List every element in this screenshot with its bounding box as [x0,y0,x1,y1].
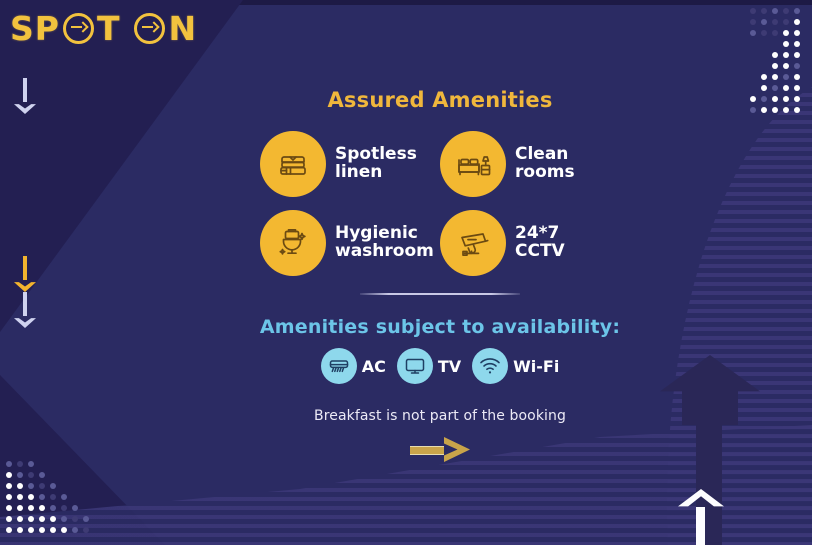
availability-item-wifi: Wi-Fi [472,348,559,384]
cctv-camera-icon [440,210,506,276]
dot [17,472,23,478]
dot [783,52,789,58]
dot [794,96,800,102]
dot [83,461,89,467]
dot [39,516,45,522]
dot [783,74,789,80]
dot [761,52,767,58]
dot [39,494,45,500]
dot [794,30,800,36]
wifi-icon [472,348,508,384]
dot [794,85,800,91]
dot [739,52,745,58]
dot [783,30,789,36]
amenity-label: Spotless linen [335,146,417,182]
dot [61,483,67,489]
dot [783,107,789,113]
dot [750,41,756,47]
dot [772,30,778,36]
dot [750,52,756,58]
down-arrow-gold-icon [14,256,36,292]
logo-text-n: N [168,12,197,45]
dot [50,461,56,467]
dot [6,483,12,489]
dot [739,8,745,14]
dot [772,19,778,25]
dot [17,483,23,489]
amenities-grid: Spotless linen [260,131,620,276]
dot [83,505,89,511]
up-arrow-icon [678,489,724,545]
dot [739,85,745,91]
dot [783,63,789,69]
dot [17,505,23,511]
dot [17,516,23,522]
down-arrow-icon-top [14,78,36,114]
availability-title: Amenities subject to availability: [240,316,640,338]
dot [739,107,745,113]
right-arrow-icon [408,436,472,462]
availability-label: Wi-Fi [513,357,559,376]
dot [39,472,45,478]
dot [61,461,67,467]
amenity-clean-rooms: Clean rooms [440,131,620,197]
amenity-label: Hygienic washroom [335,225,434,261]
dot [750,8,756,14]
dot [772,107,778,113]
dot [83,483,89,489]
dot [28,527,34,533]
dot [750,19,756,25]
dot [783,8,789,14]
dot [28,516,34,522]
dot [6,461,12,467]
dot [794,107,800,113]
dot [39,461,45,467]
dot [72,483,78,489]
dot [794,19,800,25]
dot [761,85,767,91]
page-title: Assured Amenities [240,88,640,112]
poster-panel: SP T N Assured Amenities [0,0,812,545]
logo-text-sp: SP [10,12,60,45]
dot [61,527,67,533]
dot [783,96,789,102]
promo-poster: SP T N Assured Amenities [0,0,820,560]
dot [72,472,78,478]
folded-linen-icon [260,131,326,197]
dot-grid-bottom-left [6,461,89,533]
dot [83,472,89,478]
dot [28,505,34,511]
dot [72,516,78,522]
logo-text-t: T [97,12,121,45]
availability-item-tv: TV [397,348,461,384]
dot [72,461,78,467]
amenity-label: Clean rooms [515,146,575,182]
dot [28,461,34,467]
dot [761,107,767,113]
dot [83,516,89,522]
content-column: Assured Amenities Spotless linen [240,0,640,545]
dot [783,85,789,91]
dot [739,30,745,36]
breakfast-note: Breakfast is not part of the booking [240,408,640,424]
dot [750,30,756,36]
dot [61,494,67,500]
dot [750,63,756,69]
dot [739,74,745,80]
dot [61,505,67,511]
toilet-icon [260,210,326,276]
availability-item-ac: AC [321,348,386,384]
logo-o-arrow-icon-2 [134,13,165,44]
amenity-spotless-linen: Spotless linen [260,131,440,197]
dot [72,494,78,500]
dot [761,19,767,25]
dot [761,8,767,14]
dot [772,8,778,14]
dot [761,96,767,102]
dot [61,516,67,522]
dot [772,63,778,69]
dot [739,96,745,102]
dot [17,527,23,533]
amenity-hygienic-washroom: Hygienic washroom [260,210,440,276]
dot [794,41,800,47]
dot [783,19,789,25]
dot [783,41,789,47]
dot [761,63,767,69]
bed-icon [440,131,506,197]
dot [39,527,45,533]
dot [794,8,800,14]
dot [72,527,78,533]
dot [6,494,12,500]
dot [50,505,56,511]
dot [6,472,12,478]
television-icon [397,348,433,384]
dot [750,74,756,80]
down-arrow-icon-bottom [14,292,36,328]
dot [17,461,23,467]
dot [28,472,34,478]
dot [72,505,78,511]
dot [750,107,756,113]
dot-grid-top-right [739,8,800,113]
dot [50,483,56,489]
dot [772,85,778,91]
availability-label: TV [438,357,461,376]
dot [761,30,767,36]
logo-o-arrow-icon-1 [63,13,94,44]
dot [17,494,23,500]
dot [83,494,89,500]
dot [772,41,778,47]
amenity-label: 24*7 CCTV [515,225,565,261]
dot [761,41,767,47]
dot [750,85,756,91]
dot [739,19,745,25]
dot [794,74,800,80]
dot [50,516,56,522]
dot [50,494,56,500]
dot [739,41,745,47]
dot [772,96,778,102]
air-conditioner-icon [321,348,357,384]
amenity-24x7-cctv: 24*7 CCTV [440,210,620,276]
dot [750,96,756,102]
dot [6,516,12,522]
dot [28,494,34,500]
dot [39,505,45,511]
dot [83,527,89,533]
dot [794,63,800,69]
dot [28,483,34,489]
dot [39,483,45,489]
dot [772,74,778,80]
availability-row: AC TV [240,348,640,384]
dot [61,472,67,478]
dot [794,52,800,58]
dot [50,527,56,533]
dot [761,74,767,80]
section-divider [360,293,520,295]
dot [6,505,12,511]
brand-logo: SP T N [10,12,197,45]
dot [772,52,778,58]
dot [739,63,745,69]
availability-label: AC [362,357,386,376]
dot [6,527,12,533]
dot [50,472,56,478]
